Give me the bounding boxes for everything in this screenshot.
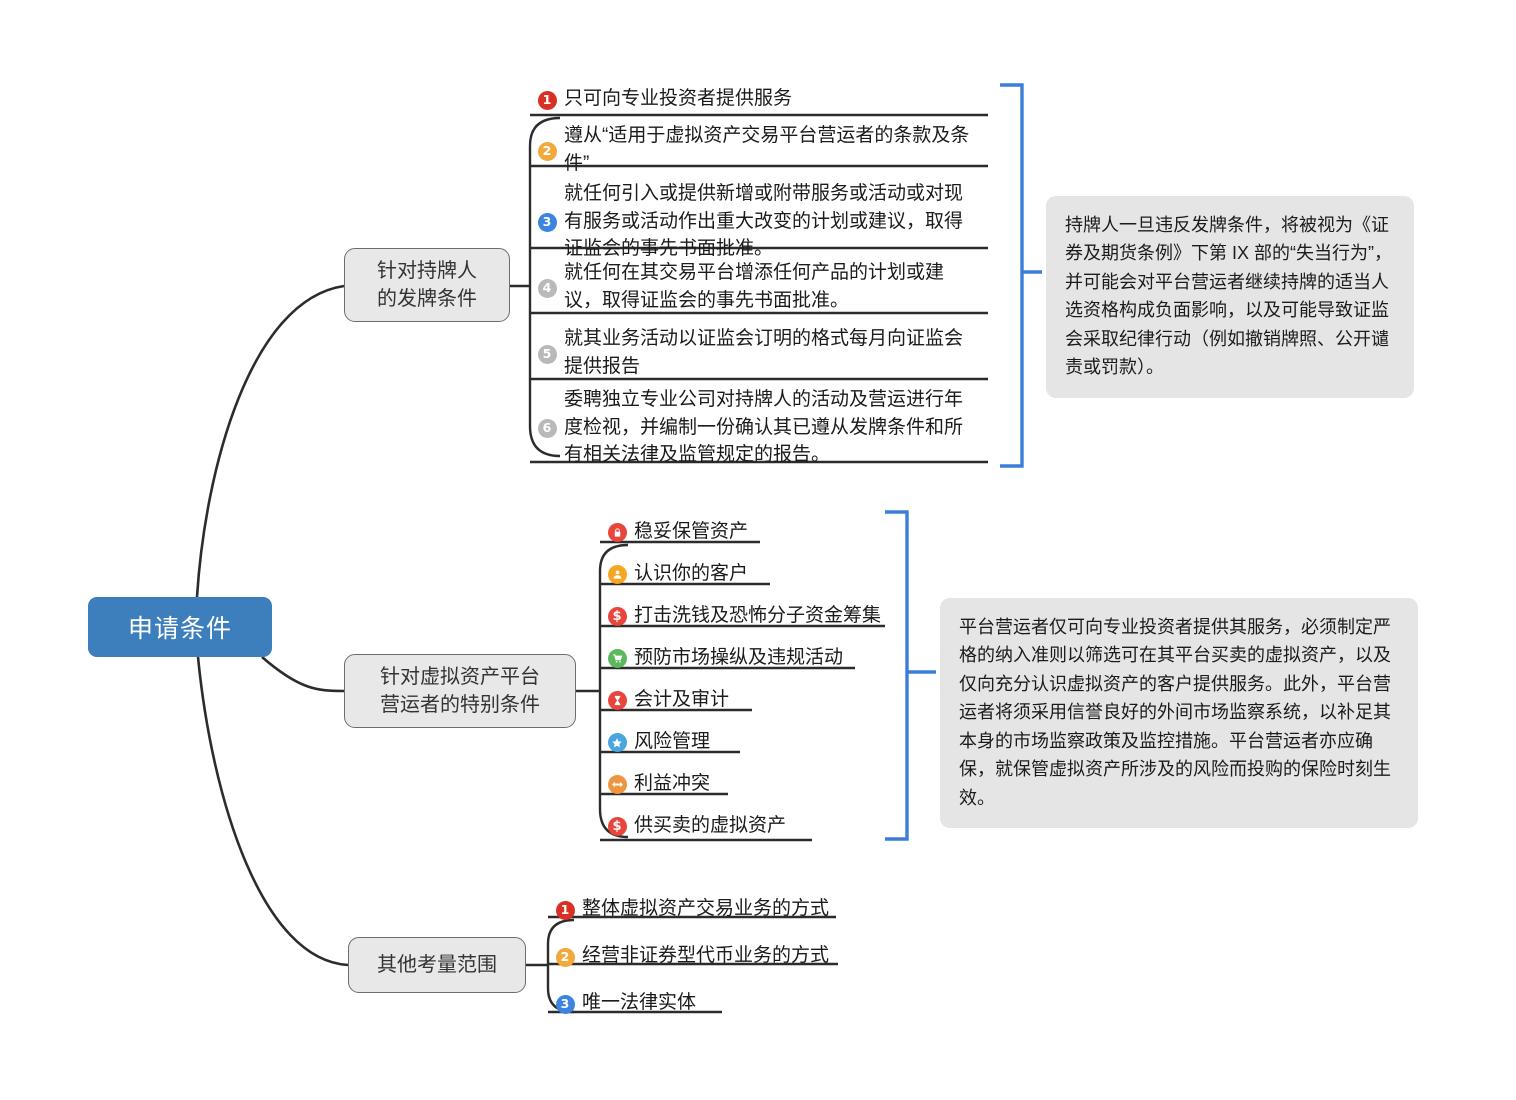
number-badge-3: 3 [538, 213, 557, 232]
leaf-item-label: 就其业务活动以证监会订明的格式每月向证监会提供报告 [564, 325, 988, 381]
leaf-item-marker [600, 689, 634, 710]
number-badge-5: 5 [538, 345, 557, 364]
leaf-item-label: 遵从“适用于虚拟资产交易平台营运者的条款及条件” [564, 122, 988, 178]
branch-node-other-considerations[interactable]: 其他考量范围 [348, 937, 526, 993]
leaf-item[interactable]: 2经营非证券型代币业务的方式 [548, 933, 848, 980]
leaf-list-licensee-conditions: 1只可向专业投资者提供服务2遵从“适用于虚拟资产交易平台营运者的条款及条件”3就… [530, 84, 988, 484]
leaf-item-marker [600, 647, 634, 668]
leaf-item[interactable]: 2遵从“适用于虚拟资产交易平台营运者的条款及条件” [530, 135, 988, 166]
number-badge-1: 1 [556, 901, 575, 920]
number-badge-1: 1 [538, 91, 557, 110]
root-node-label: 申请条件 [128, 609, 232, 645]
leaf-item-marker: 1 [530, 89, 564, 110]
branch-node-label: 针对虚拟资产平台营运者的特别条件 [380, 663, 540, 720]
branch-node-platform-operator-conditions[interactable]: 针对虚拟资产平台营运者的特别条件 [344, 654, 576, 728]
leaf-item[interactable]: 3唯一法律实体 [548, 980, 848, 1027]
mindmap-canvas: 申请条件 针对持牌人的发牌条件 针对虚拟资产平台营运者的特别条件 其他考量范围 … [0, 0, 1516, 1100]
lock-icon [608, 523, 627, 542]
leaf-item[interactable]: 会计及审计 [600, 679, 900, 721]
leaf-list-other-considerations: 1整体虚拟资产交易业务的方式2经营非证券型代币业务的方式3唯一法律实体 [548, 886, 848, 1027]
leaf-item-label: 会计及审计 [634, 686, 737, 714]
leaf-item[interactable]: 1只可向专业投资者提供服务 [530, 84, 988, 115]
leaf-item[interactable]: 1整体虚拟资产交易业务的方式 [548, 886, 848, 933]
summary-box-licensee: 持牌人一旦违反发牌条件，将被视为《证券及期货条例》下第 IX 部的“失当行为”，… [1046, 196, 1414, 398]
leaf-item[interactable]: 认识你的客户 [600, 553, 900, 595]
leaf-list-platform-operator-conditions: 稳妥保管资产认识你的客户$打击洗钱及恐怖分子资金筹集预防市场操纵及违规活动会计及… [600, 511, 900, 851]
leaf-item-marker [600, 521, 634, 542]
number-badge-4: 4 [538, 279, 557, 298]
leaf-item-marker: 4 [530, 277, 564, 298]
leaf-item-marker [600, 773, 634, 794]
hourglass-icon [608, 691, 627, 710]
leaf-item-marker: 3 [530, 211, 564, 232]
number-badge-2: 2 [556, 948, 575, 967]
dollar-icon: $ [608, 607, 627, 626]
branch-node-label: 其他考量范围 [377, 951, 497, 979]
leaf-item[interactable]: 利益冲突 [600, 763, 900, 805]
leaf-item-marker: 2 [548, 946, 582, 967]
leaf-item[interactable]: 稳妥保管资产 [600, 511, 900, 553]
leaf-item[interactable]: 4就任何在其交易平台增添任何产品的计划或建议，取得证监会的事先书面批准。 [530, 262, 988, 313]
leaf-item-marker: 1 [548, 899, 582, 920]
leaf-item-marker: 2 [530, 140, 564, 161]
leaf-item[interactable]: 风险管理 [600, 721, 900, 763]
leaf-item-label: 风险管理 [634, 728, 718, 756]
branch-node-licensee-conditions[interactable]: 针对持牌人的发牌条件 [344, 248, 510, 322]
leaf-item[interactable]: 5就其业务活动以证监会订明的格式每月向证监会提供报告 [530, 328, 988, 379]
leaf-item[interactable]: $打击洗钱及恐怖分子资金筹集 [600, 595, 900, 637]
leaf-item-label: 认识你的客户 [634, 560, 756, 588]
summary-box-platform-operator: 平台营运者仅可向专业投资者提供其服务，必须制定严格的纳入准则以筛选可在其平台买卖… [940, 598, 1418, 828]
leaf-item[interactable]: 预防市场操纵及违规活动 [600, 637, 900, 679]
number-badge-3: 3 [556, 995, 575, 1014]
leaf-item-marker: $ [600, 815, 634, 836]
leaf-item-marker [600, 563, 634, 584]
leaf-item-label: 整体虚拟资产交易业务的方式 [582, 895, 837, 923]
branch-node-label: 针对持牌人的发牌条件 [377, 257, 477, 314]
dollar-icon: $ [608, 817, 627, 836]
leaf-item-label: 委聘独立专业公司对持牌人的活动及营运进行年度检视，并编制一份确认其已遵从发牌条件… [564, 386, 988, 470]
arrows-icon [608, 775, 627, 794]
leaf-item-label: 唯一法律实体 [582, 989, 704, 1017]
leaf-item-label: 打击洗钱及恐怖分子资金筹集 [634, 602, 889, 630]
leaf-item[interactable]: 3就任何引入或提供新增或附带服务或活动或对现有服务或活动作出重大改变的计划或建议… [530, 182, 988, 262]
leaf-item[interactable]: 6委聘独立专业公司对持牌人的活动及营运进行年度检视，并编制一份确认其已遵从发牌条… [530, 394, 988, 462]
leaf-item-label: 就任何在其交易平台增添任何产品的计划或建议，取得证监会的事先书面批准。 [564, 259, 988, 315]
leaf-item[interactable]: $供买卖的虚拟资产 [600, 805, 900, 847]
root-node[interactable]: 申请条件 [88, 597, 272, 657]
person-icon [608, 565, 627, 584]
number-badge-2: 2 [538, 142, 557, 161]
leaf-item-label: 稳妥保管资产 [634, 518, 756, 546]
leaf-item-label: 预防市场操纵及违规活动 [634, 644, 851, 672]
leaf-item-marker: $ [600, 605, 634, 626]
leaf-item-marker [600, 731, 634, 752]
leaf-item-label: 只可向专业投资者提供服务 [564, 85, 800, 113]
leaf-item-marker: 3 [548, 993, 582, 1014]
leaf-item-label: 供买卖的虚拟资产 [634, 812, 794, 840]
leaf-item-label: 利益冲突 [634, 770, 718, 798]
leaf-item-marker: 6 [530, 417, 564, 438]
star-icon [608, 733, 627, 752]
leaf-item-label: 就任何引入或提供新增或附带服务或活动或对现有服务或活动作出重大改变的计划或建议，… [564, 180, 988, 264]
summary-text: 持牌人一旦违反发牌条件，将被视为《证券及期货条例》下第 IX 部的“失当行为”，… [1065, 215, 1392, 377]
leaf-item-marker: 5 [530, 343, 564, 364]
summary-text: 平台营运者仅可向专业投资者提供其服务，必须制定严格的纳入准则以筛选可在其平台买卖… [959, 617, 1391, 808]
cart-icon [608, 649, 627, 668]
leaf-item-label: 经营非证券型代币业务的方式 [582, 942, 837, 970]
number-badge-6: 6 [538, 419, 557, 438]
